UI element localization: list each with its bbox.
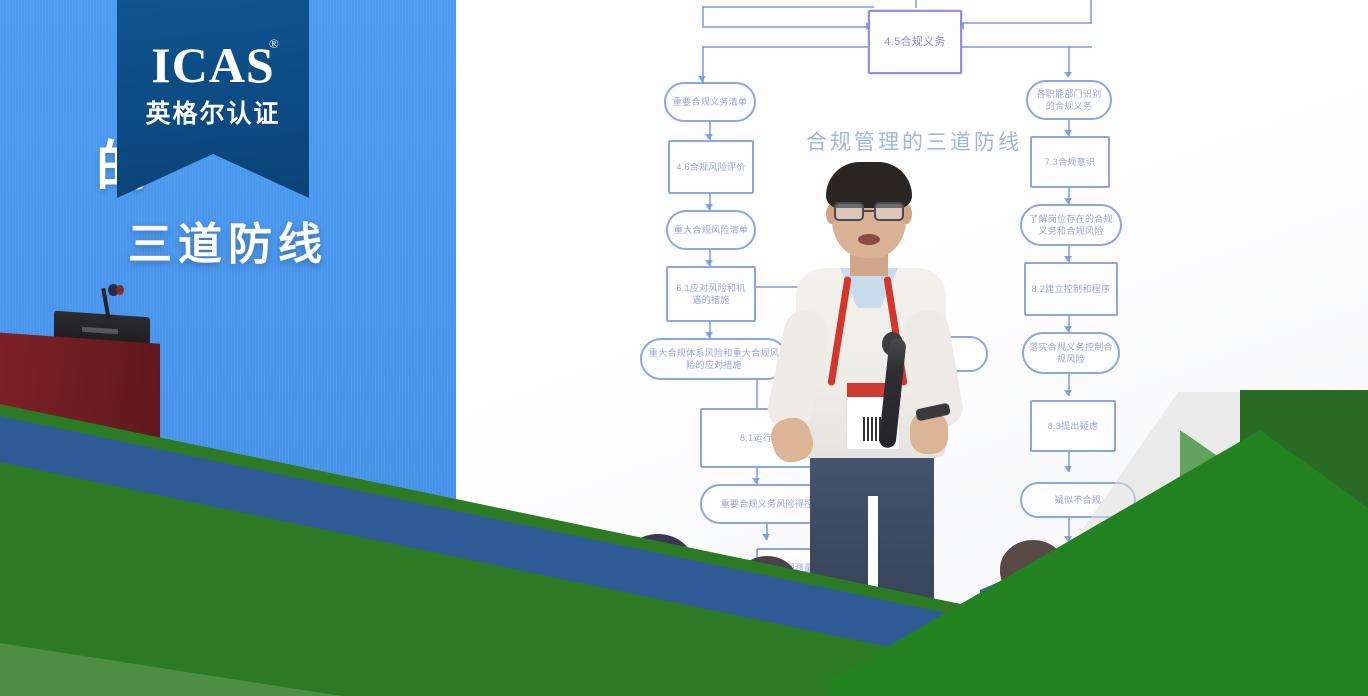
flow-node-department-obligations: 各职能部门识别的合规义务 <box>1026 80 1112 120</box>
presentation-photo: 4.5合规义务 重要合规义务清单 4.6合规风险评价 重大合规风险清单 6.1应… <box>0 0 1368 696</box>
flow-node-label: 8.1运行 <box>740 432 772 444</box>
arrow-icon <box>762 534 770 540</box>
flow-node-label: 重大合规风险清单 <box>674 224 748 236</box>
blue-slide-subtitle: 三道防线 <box>128 208 428 272</box>
connector <box>702 46 868 48</box>
flow-node-label: 重大合规体系风险和重大合规风险的应对措施 <box>646 347 782 371</box>
flow-node-label: 4.6合规风险评价 <box>676 161 745 173</box>
flow-node-4-6: 4.6合规风险评价 <box>668 140 754 194</box>
flow-node-post-obligations-risks: 了解岗位存在的合规义务和合规风险 <box>1020 204 1122 246</box>
flow-node-label: 重要合规义务清单 <box>673 96 747 108</box>
glasses-bridge-icon <box>864 210 874 212</box>
flow-node-label: 了解岗位存在的合规义务和合规风险 <box>1026 213 1116 237</box>
flow-node-7-3: 7.3合规意识 <box>1030 136 1110 188</box>
flow-node-important-obligations: 重要合规义务清单 <box>664 82 756 122</box>
flow-node-label: 落实合规义务控制合规风险 <box>1028 341 1114 365</box>
connector <box>702 26 868 28</box>
flow-node-label: 疑似不合规 <box>1055 494 1102 506</box>
flow-node-major-response-measures: 重大合规体系风险和重大合规风险的应对措施 <box>640 338 788 380</box>
connector <box>960 46 1092 48</box>
podium-mic-windscreen-icon <box>116 285 124 295</box>
flow-node-8-2: 8.2建立控制和程序 <box>1024 262 1118 316</box>
flow-node-label: 8.2建立控制和程序 <box>1032 283 1111 295</box>
flow-node-label: 6.1应对风险和机遇的措施 <box>672 282 750 306</box>
speaker-mouth <box>858 234 880 245</box>
flow-node-6-1: 6.1应对风险和机遇的措施 <box>666 266 756 322</box>
connector <box>1090 0 1092 24</box>
connector <box>702 6 704 26</box>
speaker-person <box>770 160 1000 610</box>
flow-node-label: 7.3合规意识 <box>1045 156 1096 168</box>
arrow-icon <box>1064 72 1072 78</box>
connector <box>756 380 758 408</box>
connector <box>960 22 1092 24</box>
arrow-icon <box>1064 466 1072 472</box>
arrow-icon <box>1064 390 1072 396</box>
flow-node-4-5: 4.5合规义务 <box>868 10 962 74</box>
icas-chinese-name: 英格尔认证 <box>117 94 309 130</box>
icas-logo-text: ICAS <box>117 40 309 90</box>
registered-mark-icon: ® <box>269 36 279 52</box>
flow-node-implement-obligations: 落实合规义务控制合规风险 <box>1022 332 1120 374</box>
flow-node-label: 各职能部门识别的合规义务 <box>1032 88 1106 112</box>
flow-node-major-risk-list: 重大合规风险清单 <box>666 210 756 250</box>
glasses-lens-right-icon <box>874 202 904 221</box>
slide-title: 合规管理的三道防线 <box>806 126 1022 156</box>
glasses-lens-left-icon <box>834 202 864 221</box>
connector <box>702 6 874 8</box>
flow-node-label: 4.5合规义务 <box>884 35 945 50</box>
connector <box>915 0 917 8</box>
flow-node-label: 8.3提出疑虑 <box>1048 420 1099 432</box>
flow-node-8-3: 8.3提出疑虑 <box>1030 400 1116 452</box>
